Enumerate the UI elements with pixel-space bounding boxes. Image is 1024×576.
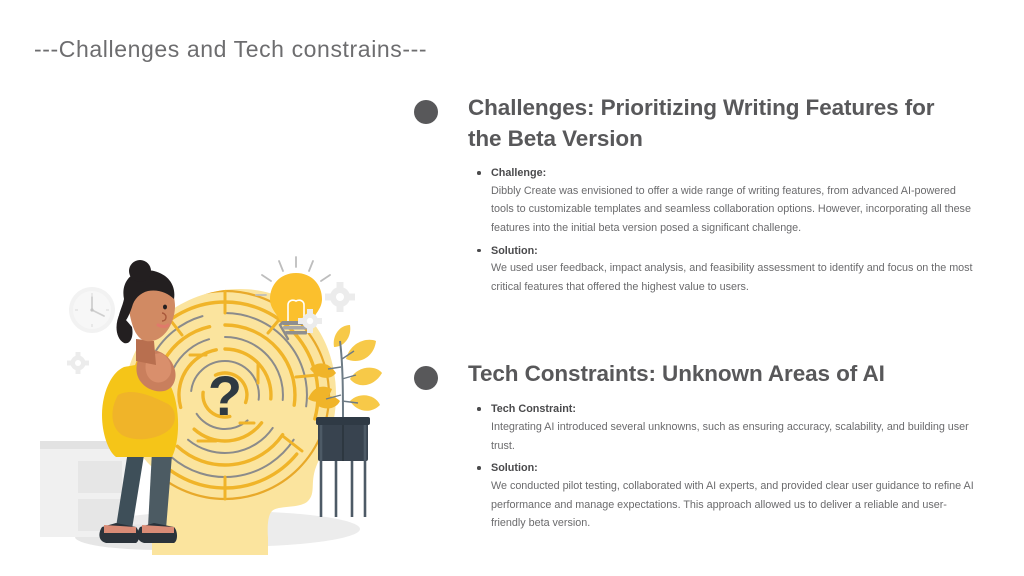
illustration-person-thinking-maze-head: ? xyxy=(40,255,390,565)
bullet-body: Dibbly Create was envisioned to offer a … xyxy=(477,182,977,238)
bullet-list: Challenge: Dibbly Create was envisioned … xyxy=(477,165,977,296)
bullet-dot-icon xyxy=(414,100,438,124)
list-item: Tech Constraint: Integrating AI introduc… xyxy=(477,401,977,455)
bullet-dot-icon xyxy=(414,366,438,390)
section-heading-row: Tech Constraints: Unknown Areas of AI xyxy=(414,358,984,390)
bullet-label: Solution: xyxy=(477,243,977,260)
section-heading: Challenges: Prioritizing Writing Feature… xyxy=(468,92,968,154)
bullet-label: Challenge: xyxy=(477,165,977,182)
question-mark-label: ? xyxy=(208,364,242,427)
content-column: Challenges: Prioritizing Writing Feature… xyxy=(414,92,984,533)
bullet-body: We conducted pilot testing, collaborated… xyxy=(477,477,977,533)
section-tech-constraints: Tech Constraints: Unknown Areas of AI Te… xyxy=(414,358,984,532)
gear-icon-small-left xyxy=(67,352,89,374)
gear-icon-large-right xyxy=(325,282,355,312)
slide: ---Challenges and Tech constrains--- xyxy=(0,0,1024,576)
list-item: Challenge: Dibbly Create was envisioned … xyxy=(477,165,977,237)
bullet-list: Tech Constraint: Integrating AI introduc… xyxy=(477,401,977,532)
section-heading: Tech Constraints: Unknown Areas of AI xyxy=(468,358,885,389)
wall-clock-icon xyxy=(69,287,115,333)
bullet-body: Integrating AI introduced several unknow… xyxy=(477,418,977,455)
bullet-label: Tech Constraint: xyxy=(477,401,977,418)
slide-title: ---Challenges and Tech constrains--- xyxy=(34,36,427,63)
section-heading-row: Challenges: Prioritizing Writing Feature… xyxy=(414,92,984,154)
bullet-body: We used user feedback, impact analysis, … xyxy=(477,259,977,296)
list-item: Solution: We used user feedback, impact … xyxy=(477,243,977,297)
bullet-label: Solution: xyxy=(477,460,977,477)
section-challenges: Challenges: Prioritizing Writing Feature… xyxy=(414,92,984,296)
list-item: Solution: We conducted pilot testing, co… xyxy=(477,460,977,532)
